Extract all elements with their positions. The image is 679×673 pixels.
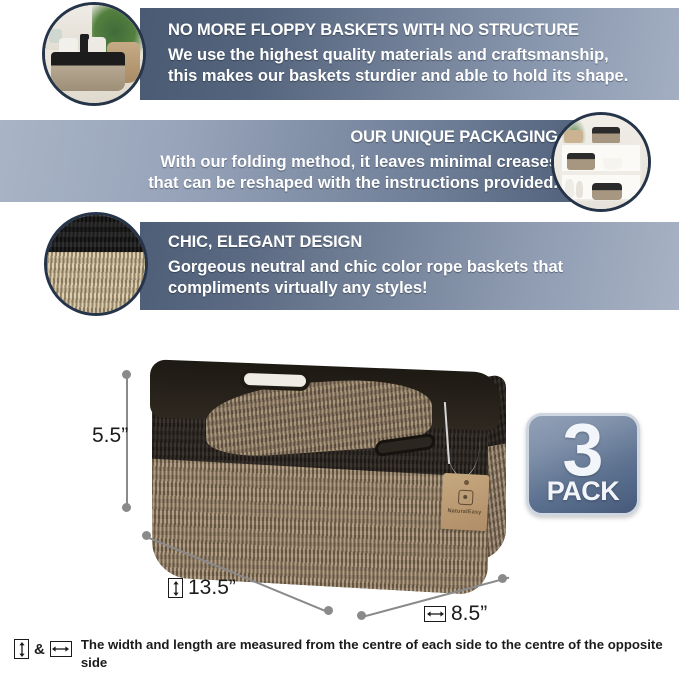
pack-count-badge: 3 PACK — [526, 413, 640, 516]
rope-basket-product-photo: NaturalEasy — [150, 352, 514, 602]
disclaimer-icons: & — [14, 636, 72, 659]
length-dimension-dot-right — [324, 606, 333, 615]
horizontal-arrow-icon — [50, 641, 72, 657]
banner-body-line-1: With our folding method, it leaves minim… — [160, 152, 558, 173]
feature-banner-no-floppy-baskets: NO MORE FLOPPY BASKETS WITH NO STRUCTURE… — [140, 8, 679, 100]
ampersand-separator: & — [34, 641, 45, 658]
vertical-arrow-icon — [14, 639, 29, 659]
height-dimension-label: 5.5” — [92, 424, 128, 448]
height-dimension-dot-bottom — [122, 503, 131, 512]
hang-tag-hole — [463, 480, 468, 485]
measurement-disclaimer: & The width and length are measured from… — [14, 636, 664, 673]
disclaimer-line-1: The width and length are measured from t… — [81, 636, 664, 672]
pack-count-number: 3 — [562, 420, 603, 481]
brand-name: NaturalEasy — [447, 508, 481, 516]
banner-title: NO MORE FLOPPY BASKETS WITH NO STRUCTURE — [168, 21, 579, 40]
banner-body-line-2: this makes our baskets sturdier and able… — [168, 66, 628, 87]
basket-on-counter-with-plant-photo — [42, 2, 146, 106]
banner-body-line-2: that can be reshaped with the instructio… — [148, 173, 558, 194]
banner-body-line-2: compliments virtually any styles! — [168, 278, 428, 299]
disclaimer-text: The width and length are measured from t… — [81, 636, 664, 673]
feature-banner-unique-packaging: OUR UNIQUE PACKAGING With our folding me… — [0, 120, 600, 202]
banner-body-line-1: We use the highest quality materials and… — [168, 45, 609, 66]
basket-handle-cutout — [244, 373, 306, 387]
horizontal-arrow-icon — [424, 606, 446, 622]
width-dimension-dot-right — [498, 574, 507, 583]
brand-hang-tag: NaturalEasy — [441, 473, 490, 531]
white-shelf-with-baskets-photo — [551, 112, 651, 212]
banner-title: OUR UNIQUE PACKAGING — [350, 128, 558, 147]
pack-count-word: PACK — [547, 478, 620, 505]
feature-banner-chic-elegant-design: CHIC, ELEGANT DESIGN Gorgeous neutral an… — [140, 222, 679, 310]
height-dimension-value: 5.5” — [92, 424, 128, 448]
vertical-arrow-icon — [168, 578, 183, 598]
product-infographic: NO MORE FLOPPY BASKETS WITH NO STRUCTURE… — [0, 0, 679, 673]
banner-title: CHIC, ELEGANT DESIGN — [168, 233, 362, 252]
length-dimension-label: 13.5” — [168, 576, 236, 600]
brand-logo-icon — [457, 489, 473, 505]
width-dimension-value: 8.5” — [451, 602, 487, 626]
width-dimension-label: 8.5” — [424, 602, 487, 626]
banner-body-line-1: Gorgeous neutral and chic color rope bas… — [168, 257, 563, 278]
length-dimension-value: 13.5” — [188, 576, 236, 600]
rope-texture-closeup-photo — [44, 212, 148, 316]
